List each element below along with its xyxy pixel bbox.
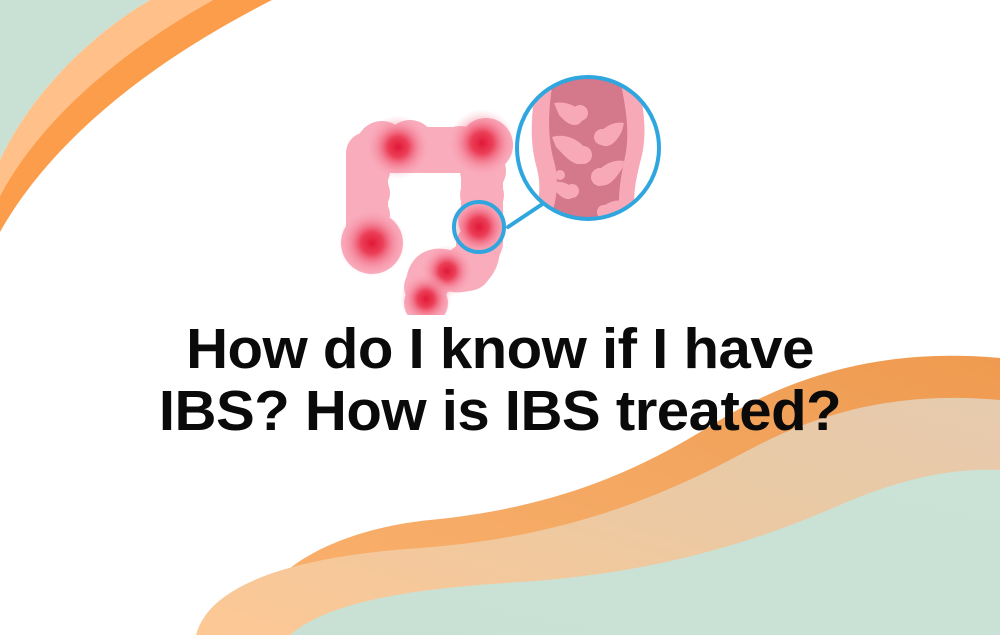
colon-with-magnifier-illustration	[330, 75, 680, 315]
decor-band-mint-bottom	[290, 470, 1000, 635]
magnified-intestine-view	[530, 75, 644, 225]
intestine-polyp-tip	[572, 105, 588, 121]
intestine-polyp-tip	[591, 168, 609, 186]
intestine-polyp-tip	[565, 184, 579, 198]
intestine-polyp-tip	[594, 129, 610, 145]
ibs-infographic-banner: How do I know if I have IBS? How is IBS …	[0, 0, 1000, 635]
page-title-line-2: IBS? How is IBS treated?	[0, 380, 1000, 442]
magnifier-circle[interactable]	[517, 75, 659, 225]
magnifier-connector-line	[508, 203, 544, 227]
decor-band-orange-light-topleft	[0, 0, 213, 196]
intestine-polyp-tip	[574, 146, 592, 164]
inflammation-spot	[338, 209, 406, 277]
decor-band-orange-solid-topleft	[0, 0, 272, 232]
page-title-line-1: How do I know if I have	[0, 318, 1000, 380]
decor-band-mint-topleft	[0, 0, 150, 160]
inflammation-spot	[448, 109, 516, 177]
page-title: How do I know if I have IBS? How is IBS …	[0, 318, 1000, 442]
inflammation-spot	[366, 115, 430, 179]
intestine-polyp-tip	[555, 170, 565, 180]
